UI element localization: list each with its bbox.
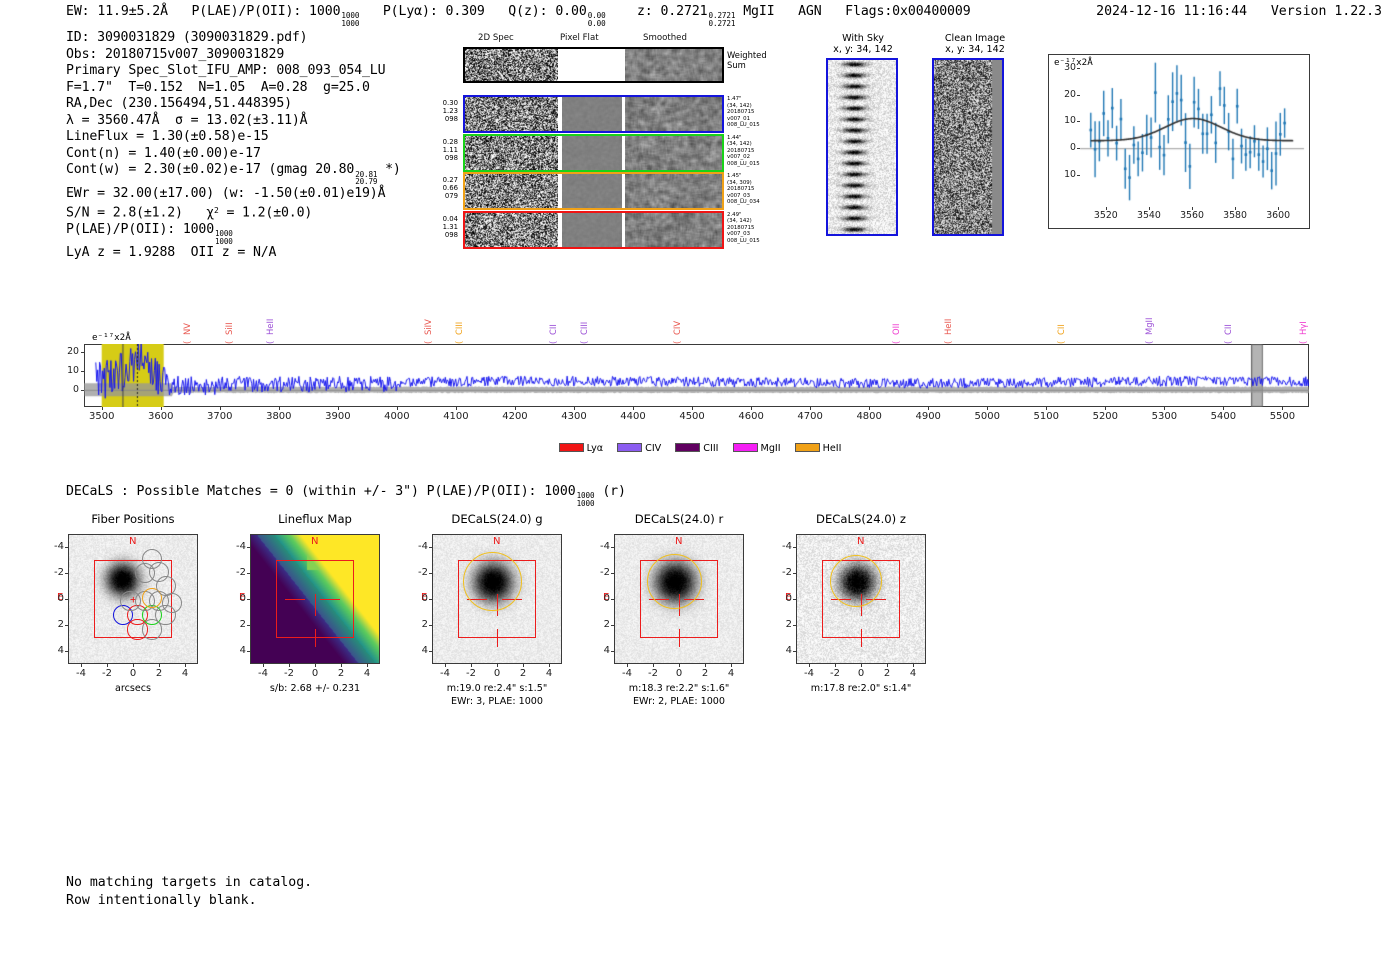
full-spectrum-xtick [456,407,457,410]
full-spectrum-xtick-label: 4000 [375,411,419,422]
emission-line-label: CIII [454,322,464,335]
emission-line-tick: ( [1144,341,1154,344]
full-spectrum-ytick [81,390,84,391]
full-spectrum-xtick [1105,407,1106,410]
cutout-ytick-label: -4 [768,541,792,552]
info-sn-chi2: S/N = 2.8(±1.2) χ2 = 1.2(±0.0) [66,203,401,222]
info-seeing: F=1.7" T=0.152 N=1.05 A=0.28 g=25.0 [66,80,401,97]
footer-line-1: No matching targets in catalog. [66,874,312,892]
full-spectrum-xtick-label: 4900 [906,411,950,422]
cutout-xtick [133,664,134,667]
header-datetime: 2024-12-16 11:16:44 [1096,4,1247,19]
cutout-ytick [247,599,250,600]
legend-swatch [795,443,820,452]
cutout-ytick [65,651,68,652]
spec2d-row-left-label: 079 [430,193,458,201]
header-qz-range: 0.000.00 [588,12,606,27]
line-fit-ytick-label: 30 [1050,62,1076,73]
full-spectrum-xtick-label: 3600 [139,411,183,422]
header-summary-line: EW: 11.9±5.2Å P(LAE)/P(OII): 10001000100… [66,4,971,28]
cutout-panel-title: Lineflux Map [235,512,395,526]
emission-line-legend: Lyα CIV CIII MgII HeII [0,443,1400,454]
north-marker: N [129,536,136,547]
emission-line-tick: ( [891,341,901,344]
cutout-ytick-label: 0 [768,593,792,604]
emission-line-label: CII [1223,324,1233,335]
full-spectrum-xtick [1046,407,1047,410]
cutout-xtick [497,664,498,667]
spec2d-row-2dspec [465,97,558,131]
full-spectrum-xtick [1282,407,1283,410]
full-spectrum-xtick [397,407,398,410]
emission-line-label: CIII [579,322,589,335]
north-marker: N [857,536,864,547]
cutout-ytick [429,651,432,652]
spec2d-weighted-sum-label-2: Sum [727,60,746,70]
legend-label: CIII [700,443,718,454]
spec2d-row [463,134,724,172]
cutout-ytick-label: -4 [222,541,246,552]
full-spectrum-xtick-label: 4500 [670,411,714,422]
info-redshift: LyA z = 1.9288 OII z = N/A [66,245,401,262]
spec2d-row-right-label: 008_LU_015 [727,123,789,129]
full-spectrum-xtick [1223,407,1224,410]
spec2d-row-pixelflat [562,213,622,247]
info-cont-n: Cont(n) = 1.40(±0.00)e-17 [66,146,401,163]
north-marker: N [675,536,682,547]
cutout-xaxis-label: arcsecs [38,683,228,694]
spec2d-row-pixelflat [562,136,622,170]
full-spectrum-ytick [81,371,84,372]
spec2d-weighted-sum-box [463,47,724,83]
emission-line-label: OII [891,323,901,335]
header-species: MgII [743,4,774,19]
cutout-ytick-label: -2 [222,567,246,578]
line-fit-xtick-label: 3560 [1172,210,1212,221]
source-aperture-ellipse [463,552,523,612]
cutout-caption-line-2: EWr: 3, PLAE: 1000 [402,696,592,707]
footer-line-2: Row intentionally blank. [66,892,312,910]
line-fit-canvas [1048,54,1310,229]
full-spectrum-xtick-label: 3900 [316,411,360,422]
line-fit-ytick [1077,148,1080,149]
clean-image-coords: x, y: 34, 142 [920,44,1030,56]
full-spectrum-plot: e⁻¹⁷x2Å NV(SiII(HeII(SiIV(CIII(CII(CIII(… [84,344,1309,407]
full-spectrum-xtick [574,407,575,410]
header-plae: P(LAE)/P(OII): 1000 [191,4,340,19]
cutout-xtick [367,664,368,667]
full-spectrum-xtick [633,407,634,410]
cutout-xtick-label: 4 [169,668,201,679]
legend-swatch [559,443,584,452]
cutout-xtick [107,664,108,667]
emission-line-tick: ( [224,341,234,344]
spec2d-col-header-2dspec: 2D Spec [478,33,514,43]
emission-line-label: HeII [943,319,953,335]
cutout-ytick [611,547,614,548]
full-spectrum-xtick [869,407,870,410]
cutout-ytick-label: 2 [222,619,246,630]
line-fit-xtick-label: 3580 [1215,210,1255,221]
info-lineflux: LineFlux = 1.30(±0.58)e-15 [66,129,401,146]
line-fit-ytick-label: 20 [1050,89,1076,100]
info-obs: Obs: 20180715v007_3090031829 [66,47,401,64]
legend-item: Lyα [559,443,604,454]
full-spectrum-xtick-label: 3500 [80,411,124,422]
full-spectrum-xtick [161,407,162,410]
cutout-xtick [289,664,290,667]
cutout-caption-line-1: m:17.8 re:2.0" s:1.4" [766,683,956,694]
cutout-ytick [247,625,250,626]
spec2d-weighted-sum-label-1: Weighted [727,50,767,60]
cutout-xtick-label: 4 [351,668,383,679]
cutout-xtick [81,664,82,667]
cutout-caption-line-1: m:19.0 re:2.4" s:1.5" [402,683,592,694]
emission-line-tick: ( [454,341,464,344]
info-primary-spec: Primary Spec_Slot_IFU_AMP: 008_093_054_L… [66,63,401,80]
emission-line-tick: ( [579,341,589,344]
cutout-ytick [429,599,432,600]
cutout-ytick-label: 2 [586,619,610,630]
spec2d-row-2dspec [465,213,558,247]
cutout-ytick [429,547,432,548]
line-fit-plot: e⁻¹⁷x2Å 35203540356035803600100102030 [1048,54,1310,229]
header-ew: EW: 11.9±5.2Å [66,4,168,19]
footer-note: No matching targets in catalog. Row inte… [66,874,312,910]
with-sky-canvas [828,60,896,234]
emission-line-tick: ( [182,341,192,344]
spec2d-col-header-pixelflat: Pixel Flat [560,33,599,43]
line-fit-xtick-label: 3520 [1086,210,1126,221]
crosshair-up [861,629,862,647]
legend-swatch [733,443,758,452]
cutout-ytick [429,573,432,574]
spec2d-row-smoothed [625,136,724,170]
cutout-ytick-label: 4 [768,645,792,656]
full-spectrum-ytick [81,352,84,353]
spec2d-row-2dspec [465,174,558,208]
cutout-ytick-label: 0 [404,593,428,604]
emission-line-label: SiII [224,322,234,335]
cutout-ytick [247,651,250,652]
emission-line-tick: ( [672,341,682,344]
legend-label: Lyα [584,443,604,454]
cutout-ytick-label: 0 [222,593,246,604]
north-marker: N [493,536,500,547]
emission-line-label: CIV [672,321,682,335]
header-qz: Q(z): 0.00 [508,4,586,19]
full-spectrum-xtick [279,407,280,410]
cutout-ytick-label: 4 [404,645,428,656]
cutout-caption-line-2: EWr: 2, PLAE: 1000 [584,696,774,707]
spec2d-row-left-label: 1.11 [430,147,458,155]
crosshair-up [315,629,316,647]
cutout-ytick [65,599,68,600]
info-cont-w: Cont(w) = 2.30(±0.02)e-17 (gmag 20.8020.… [66,162,401,186]
cutout-ytick [793,625,796,626]
cutout-ytick-label: 4 [222,645,246,656]
cutout-xtick-label: 4 [715,668,747,679]
emission-line-label: CII [548,324,558,335]
cutout-ytick-label: -2 [768,567,792,578]
spec2d-row-left-label: 098 [430,232,458,240]
info-id: ID: 3090031829 (3090031829.pdf) [66,30,401,47]
decals-plae-range: 10001000 [577,492,595,507]
line-fit-ytick-label: 10 [1050,169,1076,180]
emission-line-tick: ( [943,341,953,344]
cutout-ytick-label: 2 [768,619,792,630]
spec2d-row-smoothed [625,97,724,131]
full-spectrum-xtick-label: 4100 [434,411,478,422]
spec2d-row-right-label: 008_LU_034 [727,200,789,206]
full-spectrum-xtick-label: 5100 [1024,411,1068,422]
full-spectrum-xtick [220,407,221,410]
cutout-ytick [65,547,68,548]
cutout-panel-title: DECaLS(24.0) r [599,512,759,526]
emission-line-label: MgII [1144,318,1154,335]
header-plae-range: 10001000 [341,12,359,27]
legend-item: HeII [795,443,842,454]
cutout-ytick-label: -2 [586,567,610,578]
full-spectrum-xtick [751,407,752,410]
crosshair-up [679,629,680,647]
full-spectrum-xtick [692,407,693,410]
spec2d-col-header-smoothed: Smoothed [643,33,687,43]
cutout-xtick [705,664,706,667]
full-spectrum-xtick-label: 3700 [198,411,242,422]
cutout-xtick [523,664,524,667]
emission-line-label: SiIV [423,319,433,335]
full-spectrum-xtick-label: 5200 [1083,411,1127,422]
cutout-ytick [793,573,796,574]
with-sky-title: With Sky [818,33,908,45]
spec2d-row-left-label: 0.28 [430,139,458,147]
spec2d-row-2dspec [465,136,558,170]
cutout-xtick [809,664,810,667]
crosshair-left [285,599,305,600]
cutout-ytick [793,651,796,652]
object-info-block: ID: 3090031829 (3090031829.pdf) Obs: 201… [66,30,401,262]
cutout-ytick [611,625,614,626]
info-ewr: EWr = 32.00(±17.00) (w: -1.50(±0.01)e19)… [66,186,401,203]
spec2d-row [463,211,724,249]
emission-line-tick: ( [1223,341,1233,344]
cutout-panel-title: DECaLS(24.0) g [417,512,577,526]
line-fit-ytick-label: 10 [1050,115,1076,126]
full-spectrum-ytick-label: 10 [54,365,79,376]
full-spectrum-ytick-label: 20 [54,346,79,357]
emission-line-tick: ( [423,341,433,344]
cutout-ytick [611,651,614,652]
cutout-xtick [159,664,160,667]
full-spectrum-canvas [84,344,1309,407]
header-z: z: 0.2721 [637,4,708,19]
legend-label: MgII [758,443,781,454]
crosshair-up [497,629,498,647]
cutout-ytick-label: 2 [40,619,64,630]
cutout-ytick-label: 0 [586,593,610,604]
emission-line-label: CII [1056,324,1066,335]
line-fit-xtick-label: 3600 [1258,210,1298,221]
cutout-xtick [679,664,680,667]
legend-item: CIV [617,443,661,454]
emission-line-tick: ( [1056,341,1066,344]
line-fit-ytick [1077,175,1080,176]
twod-spec-panel: 2D Spec Pixel Flat Smoothed Weighted Sum… [430,33,790,263]
cutout-ytick-label: -2 [404,567,428,578]
cutout-ytick [65,625,68,626]
cutout-ytick [793,599,796,600]
decals-summary-line: DECaLS : Possible Matches = 0 (within +/… [66,484,626,508]
info-radec: RA,Dec (230.156494,51.448395) [66,96,401,113]
spec2d-wsum-noise-left [465,49,558,81]
header-agn: AGN [798,4,822,19]
cutout-ytick-label: -4 [404,541,428,552]
cutout-xtick [627,664,628,667]
cutout-ytick [65,573,68,574]
cutout-xtick [887,664,888,667]
cutout-ytick [611,573,614,574]
cutout-panel-title: DECaLS(24.0) z [781,512,941,526]
full-spectrum-xtick-label: 4200 [493,411,537,422]
cutout-caption-line-1: m:18.3 re:2.2" s:1.6" [584,683,774,694]
full-spectrum-xtick-label: 4800 [847,411,891,422]
legend-swatch [617,443,642,452]
cutout-ytick-label: -2 [40,567,64,578]
line-fit-xtick-label: 3540 [1129,210,1169,221]
legend-swatch [675,443,700,452]
crosshair-down [315,594,316,616]
cutout-ytick [247,547,250,548]
info-lambda-sigma: λ = 3560.47Å σ = 13.02(±3.11)Å [66,113,401,130]
emission-line-tick: ( [1298,341,1308,344]
cutout-xtick [471,664,472,667]
cutout-xtick [861,664,862,667]
spec2d-row [463,172,724,210]
clean-image-title: Clean Image [920,33,1030,45]
spec2d-row-left-label: 098 [430,155,458,163]
decals-matches-text: DECaLS : Possible Matches = 0 (within +/… [66,484,576,499]
full-spectrum-xtick-label: 4400 [611,411,655,422]
cutout-ytick-label: 2 [404,619,428,630]
full-spectrum-xtick [515,407,516,410]
full-spectrum-xtick-label: 5400 [1201,411,1245,422]
cutout-xtick [653,664,654,667]
clean-image-canvas [934,60,1002,234]
emission-line-tick: ( [548,341,558,344]
cutout-xtick [445,664,446,667]
with-sky-coords: x, y: 34, 142 [818,44,908,56]
full-spectrum-xtick [810,407,811,410]
spec2d-row-left-label: 098 [430,116,458,124]
spec2d-row-right-label: 008_LU_015 [727,162,789,168]
cutout-panel-title: Fiber Positions [53,512,213,526]
spec2d-row-pixelflat [562,174,622,208]
header-plya: P(Lyα): 0.309 [383,4,485,19]
full-spectrum-xtick-label: 4300 [552,411,596,422]
cutout-xtick-label: 4 [897,668,929,679]
line-fit-ytick [1077,68,1080,69]
cutout-xtick [185,664,186,667]
full-spectrum-xtick-label: 3800 [257,411,301,422]
cutout-ytick [793,547,796,548]
cutout-xtick [341,664,342,667]
cutout-xtick-label: 4 [533,668,565,679]
full-spectrum-xtick [987,407,988,410]
cutout-ytick-label: -4 [586,541,610,552]
clean-image [932,58,1004,236]
cutout-caption-line-1: s/b: 2.68 +/- 0.231 [220,683,410,694]
full-spectrum-xtick [338,407,339,410]
cutout-ytick-label: -4 [40,541,64,552]
header-z-range: 0.27210.2721 [709,12,736,27]
full-spectrum-xtick-label: 5300 [1142,411,1186,422]
header-timestamp-version: 2024-12-16 11:16:44 Version 1.22.3 [1096,4,1382,19]
spec2d-row-smoothed [625,174,724,208]
crosshair-right [320,599,340,600]
info-gmag-range: 20.8120.79 [355,171,377,186]
full-spectrum-xtick-label: 4700 [788,411,832,422]
header-flags: Flags:0x00400009 [845,4,970,19]
line-fit-ytick [1077,121,1080,122]
full-spectrum-xtick [1164,407,1165,410]
full-spectrum-unit-label: e⁻¹⁷x2Å [92,332,131,343]
cutout-ytick [247,573,250,574]
cutout-ytick [611,599,614,600]
line-fit-ytick-label: 0 [1050,142,1076,153]
cutout-xtick [549,664,550,667]
emission-line-label: NV [182,323,192,335]
cutout-ytick-label: 4 [586,645,610,656]
line-fit-ytick [1077,95,1080,96]
full-spectrum-xtick-label: 5000 [965,411,1009,422]
full-spectrum-xtick-label: 4600 [729,411,773,422]
with-sky-image [826,58,898,236]
spec2d-wsum-noise-right [625,49,724,81]
full-spectrum-xtick-label: 5500 [1260,411,1304,422]
legend-item: CIII [675,443,718,454]
cutout-xtick [315,664,316,667]
spec2d-row-left-label: 1.31 [430,224,458,232]
spec2d-row-left-label: 0.04 [430,216,458,224]
spec2d-row-right-label: 008_LU_015 [727,239,789,245]
north-marker: N [311,536,318,547]
info-plae-range: 10001000 [215,230,233,245]
full-spectrum-xtick [102,407,103,410]
header-version: Version 1.22.3 [1271,4,1382,19]
cutout-ytick [429,625,432,626]
emission-line-tick: ( [265,341,275,344]
legend-item: MgII [733,443,781,454]
cutout-ytick-label: 0 [40,593,64,604]
spec2d-row-smoothed [625,213,724,247]
spec2d-row [463,95,724,133]
cutout-ytick-label: 4 [40,645,64,656]
spec2d-row-pixelflat [562,97,622,131]
full-spectrum-ytick-label: 0 [54,384,79,395]
cutout-xtick [835,664,836,667]
emission-line-label: HeII [265,319,275,335]
info-plae: P(LAE)/P(OII): 100010001000 [66,222,401,246]
cutout-xtick [263,664,264,667]
legend-label: CIV [642,443,661,454]
legend-label: HeII [820,443,842,454]
cutout-xtick [913,664,914,667]
full-spectrum-xtick [928,407,929,410]
cutout-xtick [731,664,732,667]
emission-line-label: HγI [1298,321,1308,335]
decals-filter: (r) [602,484,626,499]
